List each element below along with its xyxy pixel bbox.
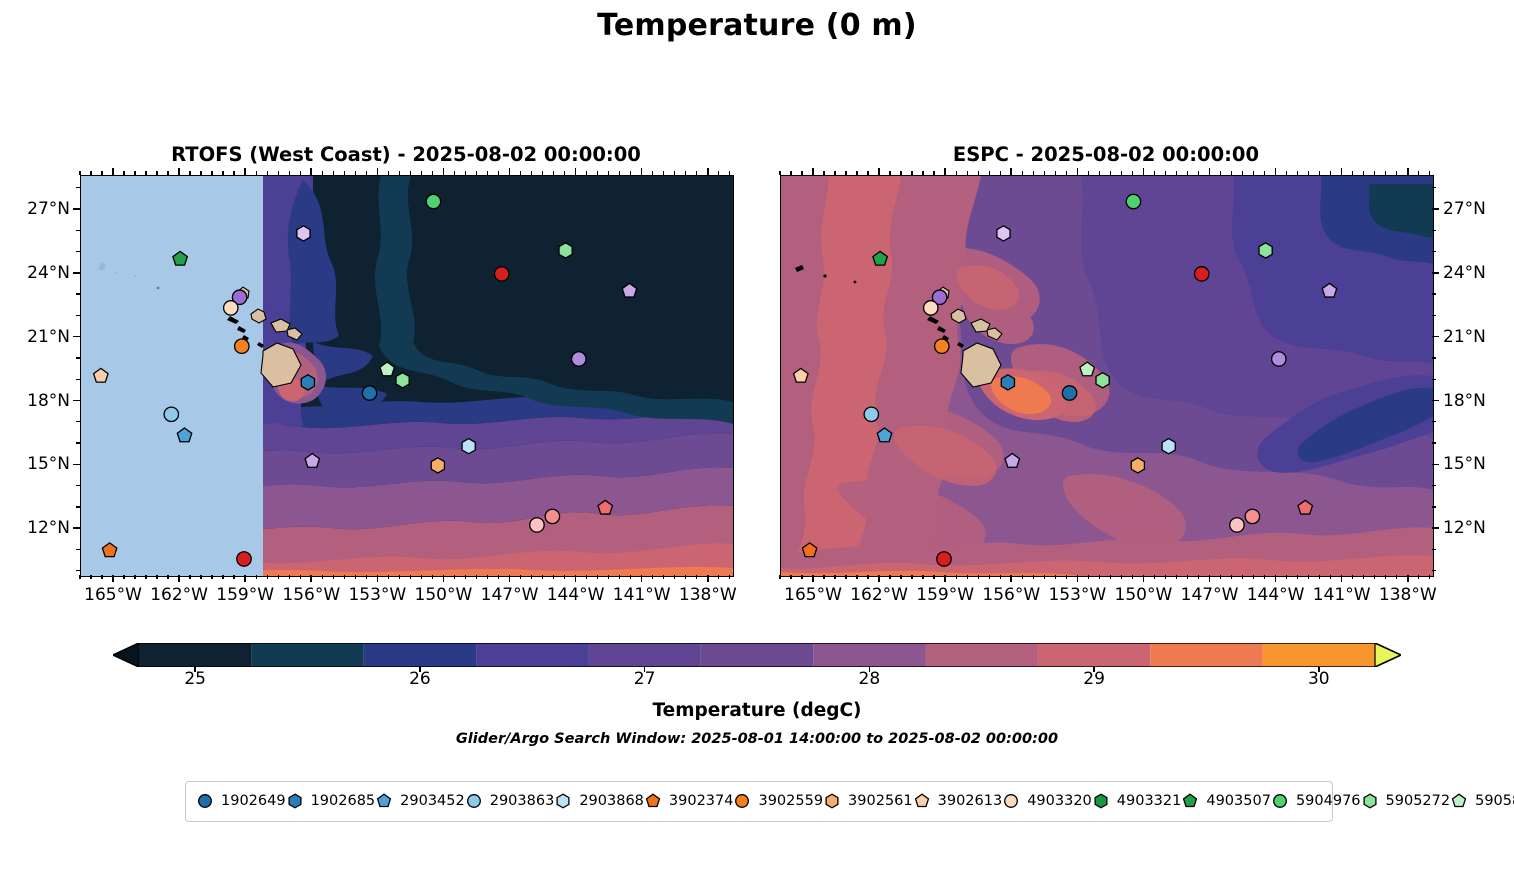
x-minor-tick-top <box>1363 171 1364 175</box>
x-minor-tick <box>498 575 499 579</box>
float-legend[interactable]: 1902649190268529034522903863290386839023… <box>185 781 1333 822</box>
x-minor-tick <box>663 575 664 579</box>
rtofs-float-markers[interactable] <box>81 176 733 576</box>
x-minor-tick-top <box>922 171 923 175</box>
float-marker-5906811[interactable] <box>1272 352 1286 366</box>
x-tick-label-0-3: 156°W <box>282 585 340 605</box>
x-tickmark <box>1341 575 1343 582</box>
float-marker-3902613[interactable] <box>94 368 108 382</box>
x-tick-label-1-9: 138°W <box>1379 585 1437 605</box>
x-minor-tick <box>267 575 268 579</box>
x-tick-label-0-4: 153°W <box>348 585 406 605</box>
float-marker-4903507[interactable] <box>873 251 887 265</box>
x-minor-tick <box>1330 575 1331 579</box>
x-minor-tick-top <box>790 171 791 175</box>
x-tickmark-top <box>244 168 246 175</box>
legend-marker-circle-icon <box>465 792 483 810</box>
float-marker-3902559[interactable] <box>235 339 249 353</box>
x-minor-tick <box>790 575 791 579</box>
x-minor-tick-top <box>267 171 268 175</box>
legend-marker-hexagon-icon <box>1361 792 1379 810</box>
x-minor-tick <box>123 575 124 579</box>
x-minor-tick <box>989 575 990 579</box>
y-tickmark <box>73 336 80 338</box>
y-minor-tick <box>76 293 80 294</box>
x-tick-label-0-1: 162°W <box>150 585 208 605</box>
x-tickmark-top <box>443 168 445 175</box>
x-minor-tick <box>531 575 532 579</box>
float-marker-5905272[interactable] <box>559 243 572 258</box>
y-tick-label-left-3: 18°N <box>0 391 70 411</box>
x-minor-tick-top <box>1000 171 1001 175</box>
y-tick-label-left-2: 21°N <box>0 327 70 347</box>
y-minor-tick <box>76 357 80 358</box>
y-minor-tick <box>76 315 80 316</box>
x-minor-tick-top <box>322 171 323 175</box>
float-marker-5905853[interactable] <box>380 362 394 376</box>
x-minor-tick-top <box>289 171 290 175</box>
legend-label: 5904976 <box>1296 793 1361 809</box>
y-tickmark <box>73 208 80 210</box>
legend-label: 3902374 <box>669 793 734 809</box>
colorbar-band-10 <box>1263 643 1375 667</box>
x-minor-tick-top <box>542 171 543 175</box>
x-minor-tick <box>900 575 901 579</box>
x-minor-tick <box>167 575 168 579</box>
x-minor-tick <box>674 575 675 579</box>
x-minor-tick-top <box>1242 171 1243 175</box>
y-tick-label-left-1: 24°N <box>0 263 70 283</box>
x-minor-tick-top <box>933 171 934 175</box>
x-minor-tick <box>1297 575 1298 579</box>
float-marker-5905272[interactable] <box>1259 243 1272 258</box>
x-minor-tick <box>729 575 730 579</box>
float-marker-2903863[interactable] <box>864 407 878 421</box>
x-tickmark-top <box>944 168 946 175</box>
x-minor-tick-top <box>101 171 102 175</box>
x-tickmark <box>1407 575 1409 582</box>
x-minor-tick-top <box>1066 171 1067 175</box>
x-minor-tick <box>432 575 433 579</box>
x-minor-tick-top <box>652 171 653 175</box>
x-tickmark <box>707 575 709 582</box>
x-minor-tick <box>801 575 802 579</box>
legend-marker-hexagon-icon <box>554 792 572 810</box>
float-marker-1902649[interactable] <box>362 386 376 400</box>
legend-item-3902561[interactable]: 3902561 <box>823 790 913 812</box>
x-minor-tick-top <box>978 171 979 175</box>
legend-item-4903321[interactable]: 4903321 <box>1092 790 1182 812</box>
float-marker-5906095[interactable] <box>495 267 509 281</box>
x-minor-tick <box>597 575 598 579</box>
x-minor-tick <box>619 575 620 579</box>
legend-item-2903863[interactable]: 2903863 <box>465 790 555 812</box>
x-tickmark <box>878 575 880 582</box>
x-minor-tick <box>1231 575 1232 579</box>
float-marker-1902649[interactable] <box>1062 386 1076 400</box>
float-marker-7901106[interactable] <box>297 226 310 241</box>
x-tick-label-1-2: 159°W <box>916 585 974 605</box>
x-minor-tick-top <box>1088 171 1089 175</box>
float-marker-7901104[interactable] <box>1322 283 1336 297</box>
x-minor-tick-top <box>663 171 664 175</box>
legend-item-5904976[interactable]: 5904976 <box>1271 790 1361 812</box>
legend-item-5905853[interactable]: 5905853 <box>1450 790 1514 812</box>
colorbar-tick-label-3: 28 <box>859 669 881 689</box>
x-minor-tick <box>1099 575 1100 579</box>
x-minor-tick <box>465 575 466 579</box>
legend-item-5905272[interactable]: 5905272 <box>1361 790 1451 812</box>
y-tick-label-right-1: 24°N <box>1443 263 1514 283</box>
x-minor-tick <box>779 575 780 579</box>
y-tick-label-left-4: 15°N <box>0 454 70 474</box>
x-minor-tick <box>586 575 587 579</box>
float-marker-3902374[interactable] <box>802 543 816 557</box>
x-minor-tick <box>487 575 488 579</box>
x-tickmark <box>1209 575 1211 582</box>
y-minor-tick <box>1432 315 1436 316</box>
float-marker-4903320[interactable] <box>224 301 238 315</box>
legend-marker-pentagon-icon <box>375 792 393 810</box>
float-marker-7901104[interactable] <box>622 283 636 297</box>
colorbar-tick-label-4: 29 <box>1083 669 1105 689</box>
y-tickmark <box>1432 527 1439 529</box>
colorbar-tickmark <box>644 667 646 672</box>
x-minor-tick <box>366 575 367 579</box>
float-marker-5906156[interactable] <box>237 552 251 566</box>
panel-title-espc: ESPC - 2025-08-02 00:00:00 <box>780 143 1432 166</box>
x-tickmark-top <box>310 168 312 175</box>
x-minor-tick-top <box>900 171 901 175</box>
x-minor-tick-top <box>856 171 857 175</box>
y-minor-tick <box>76 379 80 380</box>
x-minor-tick <box>278 575 279 579</box>
x-minor-tick <box>1363 575 1364 579</box>
x-tick-label-0-6: 147°W <box>481 585 539 605</box>
legend-item-2903452[interactable]: 2903452 <box>375 790 465 812</box>
legend-item-3902559[interactable]: 3902559 <box>733 790 823 812</box>
float-marker-2903863[interactable] <box>164 407 178 421</box>
y-minor-tick <box>1432 357 1436 358</box>
x-minor-tick-top <box>344 171 345 175</box>
float-marker-1902685[interactable] <box>1001 375 1014 390</box>
x-minor-tick-top <box>189 171 190 175</box>
x-tick-label-1-1: 162°W <box>850 585 908 605</box>
x-tickmark <box>1010 575 1012 582</box>
y-minor-tick <box>76 230 80 231</box>
float-marker-2903452[interactable] <box>177 428 191 442</box>
panel-title-rtofs: RTOFS (West Coast) - 2025-08-02 00:00:00 <box>80 143 732 166</box>
x-minor-tick <box>911 575 912 579</box>
colorbar-band-4 <box>588 643 700 667</box>
x-tickmark-top <box>509 168 511 175</box>
legend-label: 2903868 <box>579 793 644 809</box>
x-minor-tick <box>101 575 102 579</box>
legend-item-4903320[interactable]: 4903320 <box>1002 790 1092 812</box>
x-tick-label-0-7: 144°W <box>547 585 605 605</box>
x-minor-tick-top <box>1110 171 1111 175</box>
colorbar-tick-label-1: 26 <box>409 669 431 689</box>
x-tickmark-top <box>812 168 814 175</box>
colorbar[interactable] <box>113 643 1401 667</box>
x-minor-tick-top <box>989 171 990 175</box>
y-tick-label-left-5: 12°N <box>0 518 70 538</box>
x-minor-tick-top <box>1352 171 1353 175</box>
x-tickmark-top <box>1010 168 1012 175</box>
colorbar-tick-label-5: 30 <box>1308 669 1330 689</box>
float-marker-5906471[interactable] <box>1298 500 1312 514</box>
float-marker-5906471[interactable] <box>598 500 612 514</box>
colorbar-band-1 <box>251 643 363 667</box>
x-minor-tick-top <box>211 171 212 175</box>
x-minor-tick-top <box>79 171 80 175</box>
y-tick-label-right-5: 12°N <box>1443 518 1514 538</box>
x-minor-tick <box>1176 575 1177 579</box>
y-minor-tick <box>76 485 80 486</box>
legend-marker-pentagon-icon <box>913 792 931 810</box>
x-minor-tick-top <box>911 171 912 175</box>
float-marker-5906811[interactable] <box>572 352 586 366</box>
x-minor-tick-top <box>1165 171 1166 175</box>
x-minor-tick-top <box>366 171 367 175</box>
colorbar-over-arrow <box>1375 643 1401 667</box>
x-tickmark <box>178 575 180 582</box>
float-marker-5906156[interactable] <box>937 552 951 566</box>
float-marker-5906753[interactable] <box>1245 509 1259 523</box>
espc-float-markers[interactable] <box>781 176 1433 576</box>
x-minor-tick-top <box>553 171 554 175</box>
y-tick-label-left-0: 27°N <box>0 199 70 219</box>
x-minor-tick-top <box>1055 171 1056 175</box>
legend-label: 4903321 <box>1117 793 1182 809</box>
x-tick-label-1-7: 144°W <box>1247 585 1305 605</box>
x-minor-tick <box>542 575 543 579</box>
legend-item-3902613[interactable]: 3902613 <box>913 790 1003 812</box>
x-minor-tick-top <box>1033 171 1034 175</box>
x-tickmark-top <box>1407 168 1409 175</box>
map-panel-espc[interactable] <box>780 175 1434 577</box>
x-minor-tick <box>233 575 234 579</box>
x-minor-tick <box>79 575 80 579</box>
float-marker-5904976[interactable] <box>1126 194 1140 208</box>
x-tick-label-1-5: 150°W <box>1115 585 1173 605</box>
x-minor-tick <box>956 575 957 579</box>
legend-marker-pentagon-icon <box>1181 792 1199 810</box>
colorbar-band-6 <box>813 643 925 667</box>
x-minor-tick <box>344 575 345 579</box>
x-tickmark <box>310 575 312 582</box>
x-minor-tick-top <box>1385 171 1386 175</box>
x-minor-tick-top <box>967 171 968 175</box>
x-tick-label-0-9: 138°W <box>679 585 737 605</box>
legend-grid: 1902649190268529034522903863290386839023… <box>196 790 1322 812</box>
x-minor-tick <box>1385 575 1386 579</box>
x-minor-tick <box>1044 575 1045 579</box>
legend-item-1902649[interactable]: 1902649 <box>196 790 286 812</box>
float-marker-5906756[interactable] <box>1230 518 1244 532</box>
x-minor-tick <box>200 575 201 579</box>
x-minor-tick-top <box>432 171 433 175</box>
x-minor-tick <box>1220 575 1221 579</box>
float-marker-4903507[interactable] <box>173 251 187 265</box>
x-tickmark <box>641 575 643 582</box>
x-minor-tick-top <box>1253 171 1254 175</box>
x-tickmark-top <box>1077 168 1079 175</box>
y-minor-tick <box>1432 485 1436 486</box>
map-panel-rtofs[interactable] <box>80 175 734 577</box>
float-marker-2903868[interactable] <box>1162 439 1175 454</box>
x-minor-tick-top <box>1308 171 1309 175</box>
x-minor-tick <box>476 575 477 579</box>
legend-marker-circle-icon <box>1002 792 1020 810</box>
x-minor-tick-top <box>156 171 157 175</box>
x-minor-tick-top <box>801 171 802 175</box>
float-marker-3902561[interactable] <box>431 458 444 473</box>
x-minor-tick <box>1121 575 1122 579</box>
y-tickmark <box>1432 208 1439 210</box>
x-minor-tick <box>823 575 824 579</box>
legend-label: 3902613 <box>938 793 1003 809</box>
float-marker-7901104b[interactable] <box>305 454 319 468</box>
x-minor-tick-top <box>1319 171 1320 175</box>
y-tickmark <box>1432 400 1439 402</box>
x-minor-tick <box>1088 575 1089 579</box>
y-minor-tick <box>1432 442 1436 443</box>
colorbar-band-2 <box>364 643 476 667</box>
y-minor-tick <box>1432 421 1436 422</box>
x-minor-tick-top <box>564 171 565 175</box>
x-minor-tick <box>1110 575 1111 579</box>
x-minor-tick-top <box>1154 171 1155 175</box>
x-minor-tick-top <box>454 171 455 175</box>
x-minor-tick <box>1154 575 1155 579</box>
y-tick-label-right-4: 15°N <box>1443 454 1514 474</box>
legend-item-3902374[interactable]: 3902374 <box>644 790 734 812</box>
colorbar-band-0 <box>139 643 251 667</box>
float-marker-5906753[interactable] <box>545 509 559 523</box>
float-marker-7901106[interactable] <box>997 226 1010 241</box>
float-marker-2903452[interactable] <box>877 428 891 442</box>
x-tick-label-0-8: 141°W <box>613 585 671 605</box>
x-minor-tick-top <box>498 171 499 175</box>
x-minor-tick <box>967 575 968 579</box>
x-minor-tick <box>211 575 212 579</box>
x-tickmark <box>244 575 246 582</box>
x-minor-tick <box>1418 575 1419 579</box>
x-minor-tick-top <box>1121 171 1122 175</box>
float-marker-4903320[interactable] <box>924 301 938 315</box>
legend-item-1902685[interactable]: 1902685 <box>286 790 376 812</box>
float-marker-5905272b[interactable] <box>396 373 409 388</box>
float-marker-1902685[interactable] <box>301 375 314 390</box>
x-minor-tick <box>355 575 356 579</box>
y-tickmark <box>73 272 80 274</box>
y-minor-tick <box>1432 251 1436 252</box>
x-minor-tick-top <box>845 171 846 175</box>
x-minor-tick <box>1253 575 1254 579</box>
float-marker-3902613[interactable] <box>794 368 808 382</box>
y-minor-tick <box>76 570 80 571</box>
legend-marker-circle-icon <box>733 792 751 810</box>
x-minor-tick-top <box>465 171 466 175</box>
x-minor-tick <box>845 575 846 579</box>
float-marker-5906095[interactable] <box>1195 267 1209 281</box>
float-marker-3902561[interactable] <box>1131 458 1144 473</box>
x-minor-tick <box>978 575 979 579</box>
y-minor-tick <box>76 421 80 422</box>
y-tick-label-right-2: 21°N <box>1443 327 1514 347</box>
x-minor-tick-top <box>421 171 422 175</box>
y-minor-tick <box>76 442 80 443</box>
x-tickmark <box>1275 575 1277 582</box>
x-minor-tick <box>256 575 257 579</box>
x-minor-tick <box>1308 575 1309 579</box>
y-minor-tick <box>1432 293 1436 294</box>
x-minor-tick <box>189 575 190 579</box>
x-minor-tick-top <box>145 171 146 175</box>
y-minor-tick <box>76 187 80 188</box>
legend-item-2903868[interactable]: 2903868 <box>554 790 644 812</box>
x-minor-tick-top <box>222 171 223 175</box>
float-marker-3902559[interactable] <box>935 339 949 353</box>
float-marker-7901104b[interactable] <box>1005 454 1019 468</box>
x-minor-tick-top <box>956 171 957 175</box>
legend-marker-hexagon-icon <box>286 792 304 810</box>
x-tickmark-top <box>1275 168 1277 175</box>
x-minor-tick-top <box>410 171 411 175</box>
x-tickmark-top <box>707 168 709 175</box>
x-minor-tick <box>933 575 934 579</box>
y-tickmark <box>1432 272 1439 274</box>
legend-item-4903507[interactable]: 4903507 <box>1181 790 1271 812</box>
float-marker-5906756[interactable] <box>530 518 544 532</box>
legend-label: 5905272 <box>1386 793 1451 809</box>
x-minor-tick-top <box>823 171 824 175</box>
x-minor-tick-top <box>167 171 168 175</box>
float-marker-2903868[interactable] <box>462 439 475 454</box>
x-minor-tick <box>1066 575 1067 579</box>
x-minor-tick <box>1000 575 1001 579</box>
x-minor-tick-top <box>1418 171 1419 175</box>
x-tick-label-1-3: 156°W <box>982 585 1040 605</box>
colorbar-tickmark <box>1093 667 1095 672</box>
legend-label: 3902561 <box>848 793 913 809</box>
x-tickmark-top <box>1143 168 1145 175</box>
x-tickmark-top <box>1341 168 1343 175</box>
x-minor-tick-top <box>597 171 598 175</box>
x-minor-tick <box>856 575 857 579</box>
x-minor-tick-top <box>696 171 697 175</box>
float-marker-5905272b[interactable] <box>1096 373 1109 388</box>
x-minor-tick <box>1165 575 1166 579</box>
x-minor-tick-top <box>630 171 631 175</box>
x-minor-tick-top <box>718 171 719 175</box>
float-marker-5904976[interactable] <box>426 194 440 208</box>
x-minor-tick <box>322 575 323 579</box>
float-marker-5905853[interactable] <box>1080 362 1094 376</box>
x-minor-tick <box>145 575 146 579</box>
x-minor-tick <box>421 575 422 579</box>
y-tickmark <box>73 464 80 466</box>
x-tickmark <box>944 575 946 582</box>
y-tick-label-right-3: 18°N <box>1443 391 1514 411</box>
x-minor-tick <box>889 575 890 579</box>
x-minor-tick <box>608 575 609 579</box>
colorbar-tick-label-0: 25 <box>184 669 206 689</box>
x-minor-tick <box>1242 575 1243 579</box>
float-marker-3902374[interactable] <box>102 543 116 557</box>
x-minor-tick-top <box>1396 171 1397 175</box>
